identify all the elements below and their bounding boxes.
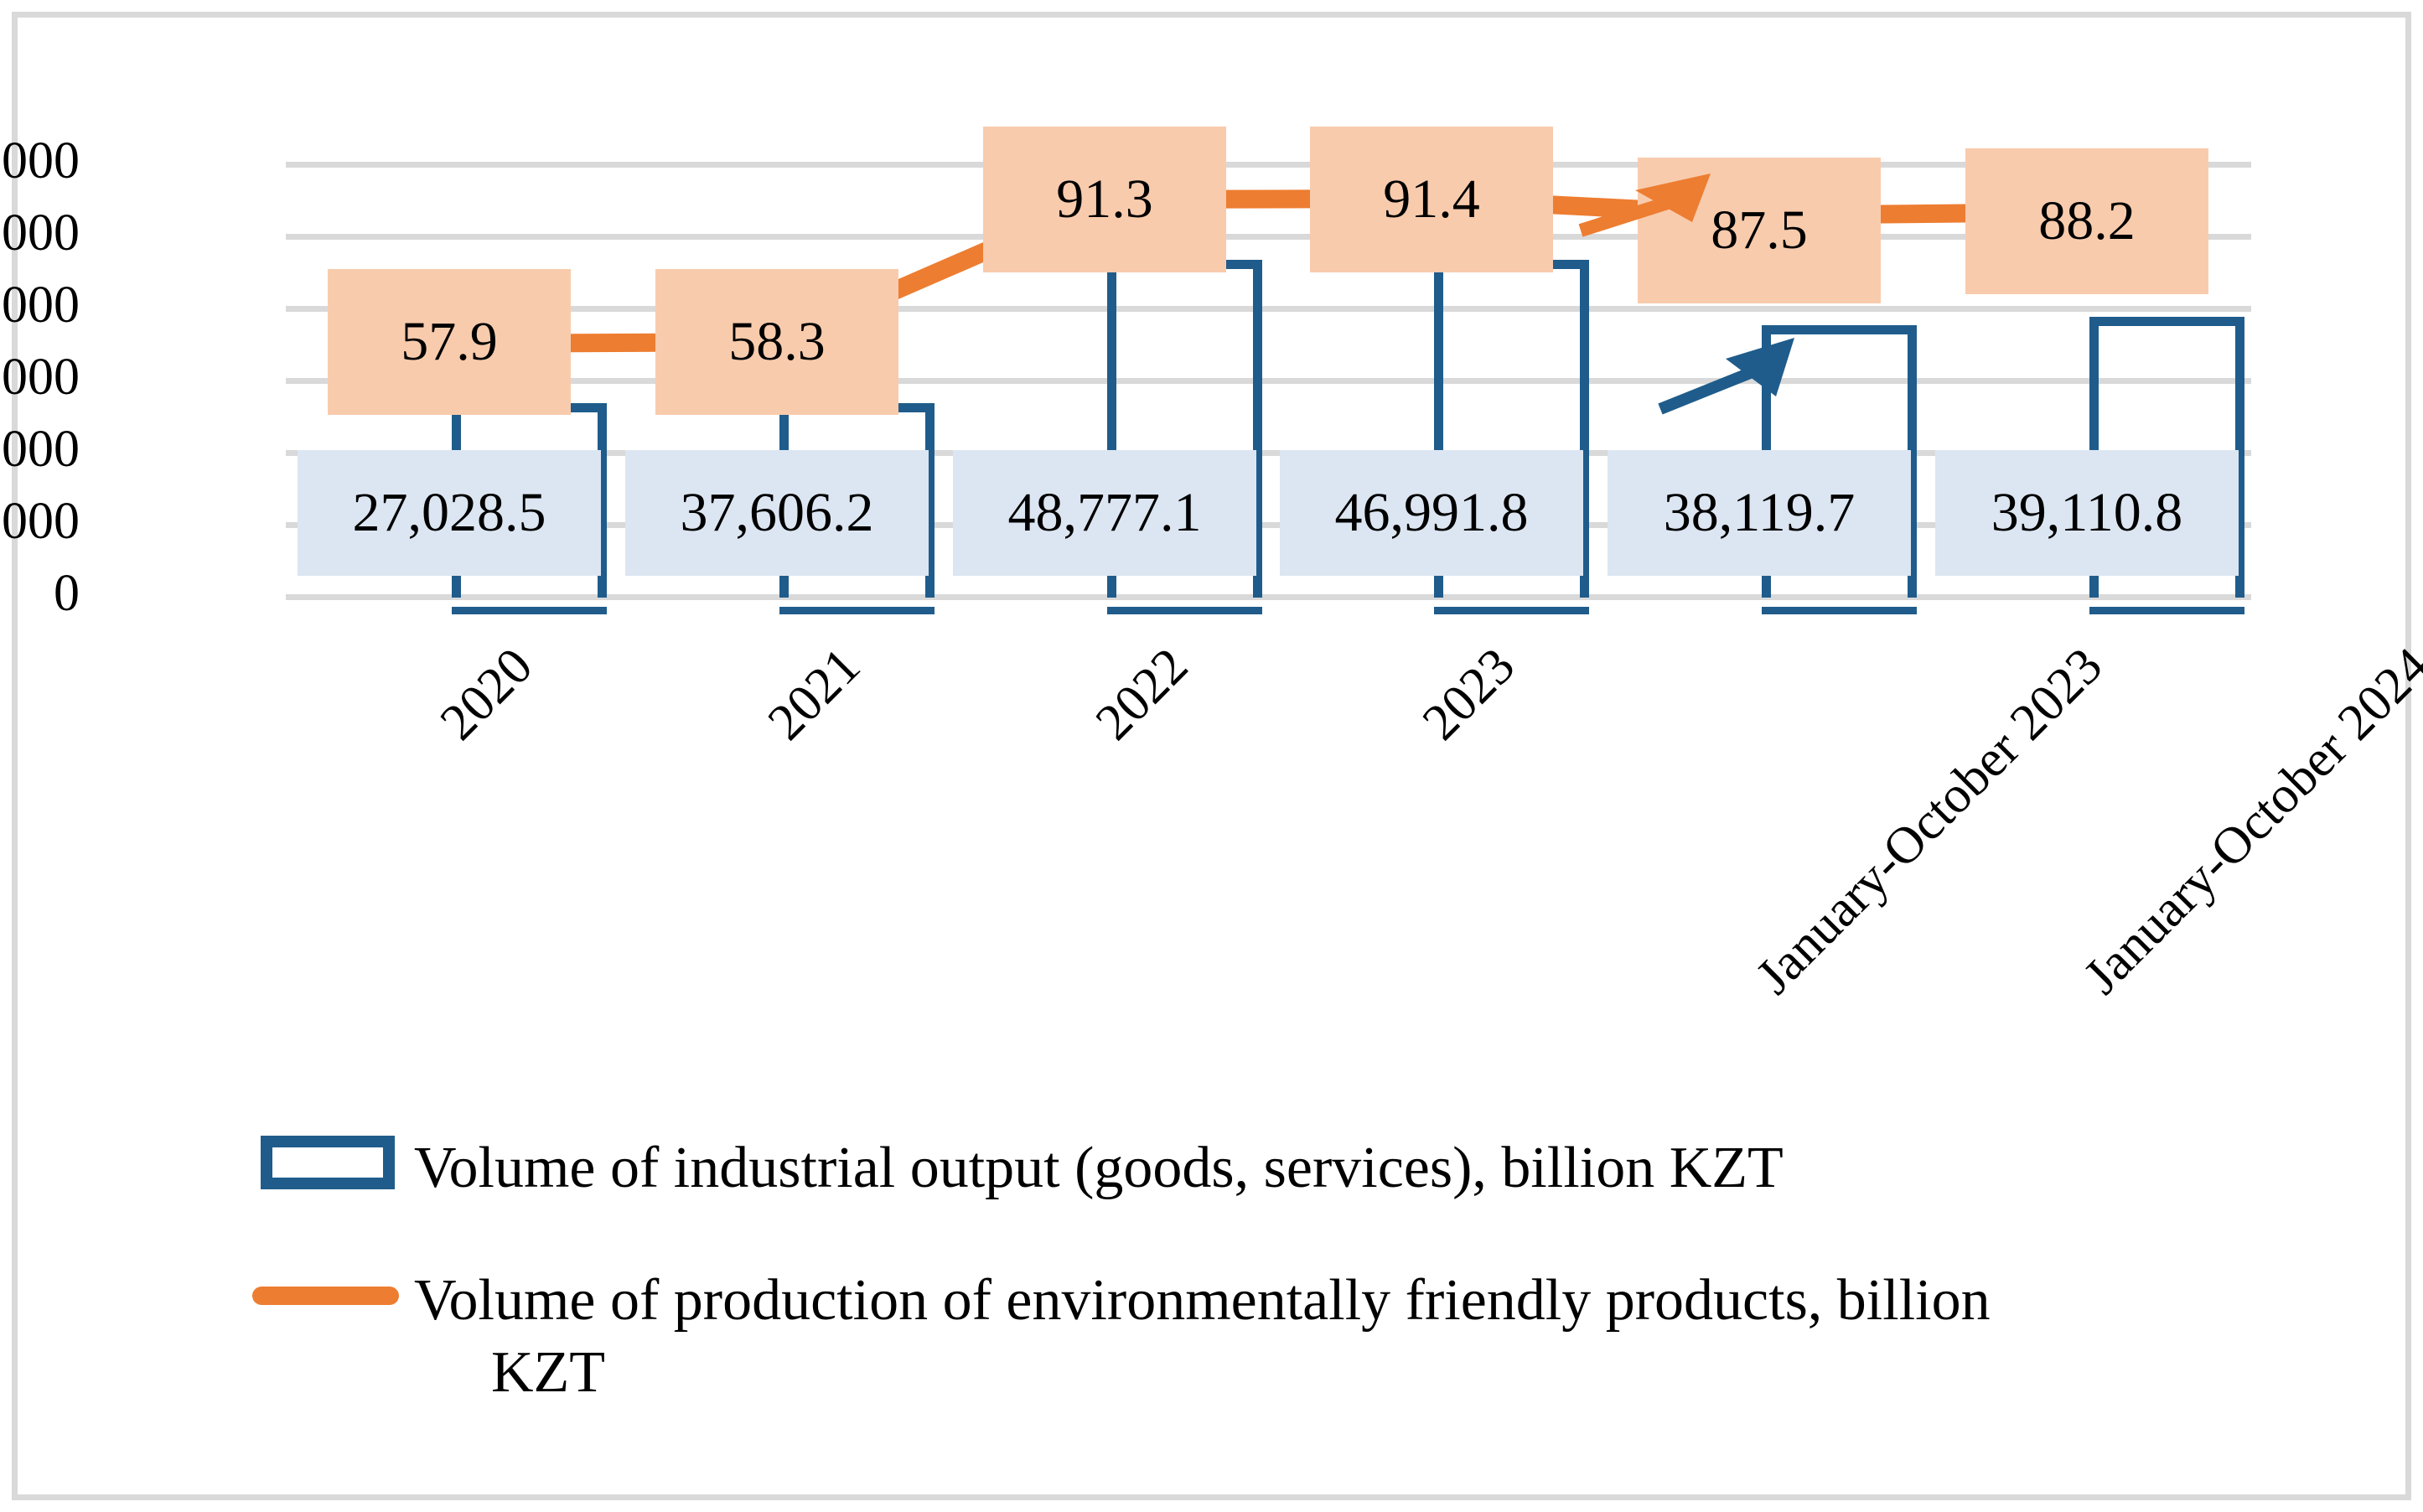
legend-key-line (252, 1265, 399, 1325)
x-axis-label-2022: 2022 (893, 638, 1199, 944)
line-label-2021: 58.3 (655, 269, 898, 415)
legend-label-line2: KZT (414, 1337, 1991, 1409)
chart-legend: Volume of industrial output (goods, serv… (252, 1132, 2331, 1469)
left-axis-tick-40000: 40000 (0, 279, 80, 331)
line-label-january-october-2023: 87.5 (1638, 158, 1881, 303)
gridline-40000 (286, 306, 2251, 312)
x-axis-label-2020: 2020 (237, 638, 543, 944)
left-axis-tick-10000: 10000 (0, 495, 80, 547)
bar-label-january-october-2024: 39,110.8 (1935, 450, 2239, 576)
left-axis-tick-30000: 30000 (0, 351, 80, 403)
bar-label-2021: 37,606.2 (625, 450, 929, 576)
gridline-30000 (286, 378, 2251, 384)
bar-base-2022 (1107, 607, 1262, 614)
line-label-january-october-2024: 88.2 (1965, 148, 2208, 294)
gridline-50000 (286, 234, 2251, 240)
bar-base-2023 (1434, 607, 1589, 614)
bar-label-2022: 48,777.1 (953, 450, 1256, 576)
bar-base-january-october-2023 (1762, 607, 1917, 614)
left-axis-tick-0: 0 (0, 567, 80, 619)
bar-base-2021 (779, 607, 935, 614)
bar-label-2020: 27,028.5 (298, 450, 601, 576)
bar-base-2020 (452, 607, 607, 614)
chart-screenshot: 60000 50000 40000 30000 20000 10000 0 10… (0, 0, 2423, 1512)
line-label-2022: 91.3 (983, 127, 1226, 272)
bar-label-january-october-2023: 38,119.7 (1608, 450, 1911, 576)
left-axis-tick-20000: 20000 (0, 423, 80, 475)
legend-item-industrial-output[interactable]: Volume of industrial output (goods, serv… (252, 1132, 2331, 1204)
bar-label-2023: 46,991.8 (1280, 450, 1583, 576)
legend-item-eco-production[interactable]: Volume of production of environmentally … (252, 1265, 2331, 1409)
legend-label-industrial-output: Volume of industrial output (goods, serv… (414, 1132, 1784, 1204)
x-axis-label-2021: 2021 (565, 638, 871, 944)
left-axis-tick-60000: 60000 (0, 135, 80, 187)
line-label-2020: 57.9 (328, 269, 571, 415)
legend-label-eco-production: Volume of production of environmentally … (414, 1265, 1991, 1409)
x-axis-label-2023: 2023 (1219, 638, 1525, 944)
left-axis-tick-50000: 50000 (0, 207, 80, 259)
legend-label-line1: Volume of production of environmentally … (414, 1268, 1991, 1333)
plot-area: 60000 50000 40000 30000 20000 10000 0 10… (286, 162, 2251, 598)
gridline-60000 (286, 162, 2251, 168)
legend-key-bar (252, 1132, 399, 1193)
line-label-2023: 91.4 (1310, 127, 1553, 272)
chart-frame: 60000 50000 40000 30000 20000 10000 0 10… (12, 12, 2411, 1500)
bar-swatch-icon (261, 1136, 395, 1189)
bar-base-january-october-2024 (2089, 607, 2244, 614)
line-swatch-icon (252, 1287, 399, 1305)
legend-label-line1: Volume of industrial output (goods, serv… (414, 1136, 1784, 1200)
